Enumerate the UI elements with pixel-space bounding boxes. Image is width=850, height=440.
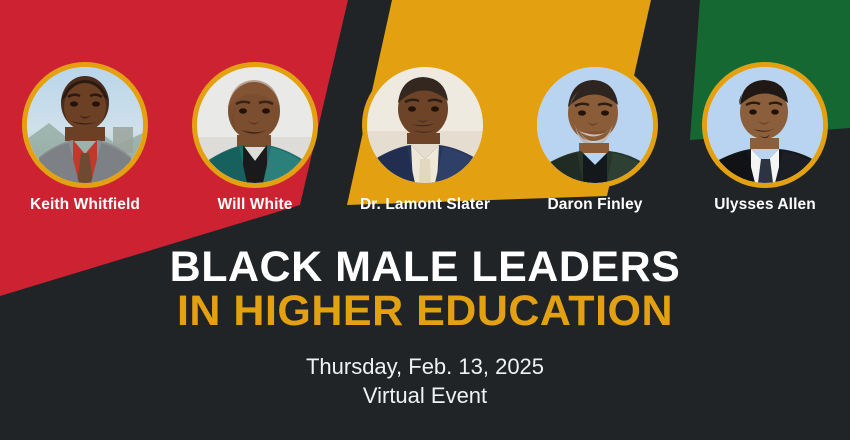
- speaker-portraits-row: Keith Whitfield: [0, 62, 850, 237]
- speaker-name: Ulysses Allen: [714, 197, 816, 213]
- avatar: [192, 62, 318, 188]
- headline-block: BLACK MALE LEADERS IN HIGHER EDUCATION T…: [0, 245, 850, 410]
- avatar: [702, 62, 828, 188]
- speaker-name: Keith Whitfield: [30, 197, 140, 213]
- speaker-card: Keith Whitfield: [0, 62, 170, 213]
- avatar: [362, 62, 488, 188]
- event-details: Thursday, Feb. 13, 2025 Virtual Event: [0, 352, 850, 410]
- event-promo-poster: Keith Whitfield: [0, 0, 850, 440]
- page-title-primary: BLACK MALE LEADERS: [0, 245, 850, 289]
- event-date: Thursday, Feb. 13, 2025: [0, 352, 850, 381]
- avatar: [22, 62, 148, 188]
- speaker-name: Will White: [218, 197, 293, 213]
- speaker-card: Dr. Lamont Slater: [340, 62, 510, 213]
- event-format: Virtual Event: [0, 381, 850, 410]
- speaker-photo-will-white: [197, 67, 313, 183]
- speaker-name: Daron Finley: [547, 197, 642, 213]
- speaker-card: Will White: [170, 62, 340, 213]
- page-title-secondary: IN HIGHER EDUCATION: [0, 289, 850, 333]
- avatar: [532, 62, 658, 188]
- speaker-photo-daron-finley: [537, 67, 653, 183]
- speaker-card: Daron Finley: [510, 62, 680, 213]
- speaker-card: Ulysses Allen: [680, 62, 850, 213]
- speaker-photo-keith-whitfield: [27, 67, 143, 183]
- speaker-photo-lamont-slater: [367, 67, 483, 183]
- speaker-name: Dr. Lamont Slater: [360, 197, 490, 213]
- speaker-photo-ulysses-allen: [707, 67, 823, 183]
